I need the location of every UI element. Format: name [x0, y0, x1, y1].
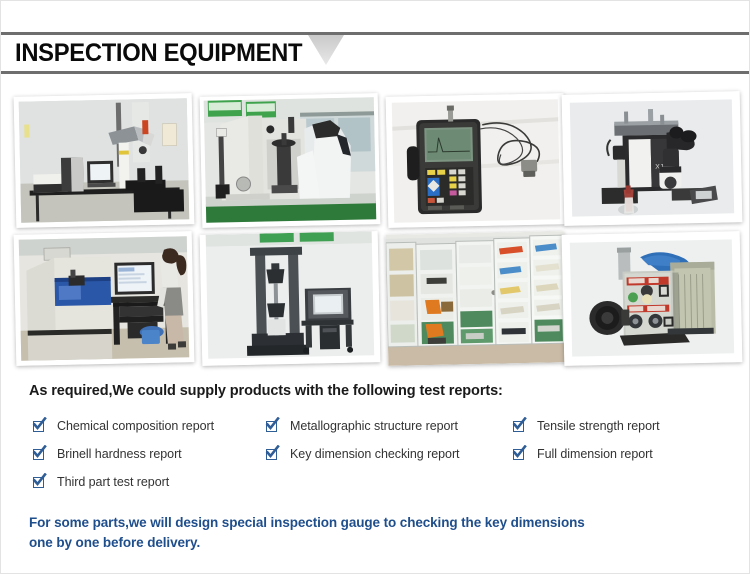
- photo-inspection-gauge-storage-cabinets-image: [386, 231, 567, 366]
- inspection-gauge-note: For some parts,we will design special in…: [29, 513, 729, 553]
- photo-portable-xray-flaw-detector: [562, 231, 743, 366]
- photo-universal-tensile-testing-machine-image: [200, 231, 381, 366]
- photo-brinell-hardness-tester-image: [200, 93, 381, 228]
- photo-inspection-gauge-storage-cabinets: [386, 231, 567, 366]
- photo-spectrometer-analyzer-image: [14, 231, 195, 366]
- photo-spectrometer-analyzer: [14, 231, 195, 366]
- checkmark-icon: [513, 420, 526, 433]
- report-item-brinell-hardness[interactable]: Brinell hardness report: [33, 447, 182, 461]
- checkmark-icon: [33, 476, 46, 489]
- checkmark-icon: [33, 420, 46, 433]
- checkmark-icon: [33, 448, 46, 461]
- photo-cmm-measuring-machine: [14, 93, 195, 228]
- photo-universal-tensile-testing-machine: [200, 231, 381, 366]
- inspection-equipment-page: INSPECTION EQUIPMENT: [0, 0, 750, 574]
- photo-ultrasonic-flaw-detector: [386, 93, 567, 228]
- photo-brinell-hardness-tester: [200, 93, 381, 228]
- photo-metallographic-microscope-image: XJP-6A: [562, 91, 743, 226]
- report-item-chemical-composition[interactable]: Chemical composition report: [33, 419, 214, 433]
- page-title: INSPECTION EQUIPMENT: [15, 35, 302, 71]
- note-line-2: one by one before delivery.: [29, 533, 729, 553]
- photo-portable-xray-flaw-detector-image: [562, 231, 743, 366]
- report-label: Third part test report: [57, 475, 169, 489]
- report-item-tensile-strength[interactable]: Tensile strength report: [513, 419, 660, 433]
- checkmark-icon: [266, 420, 279, 433]
- report-item-metallographic-structure[interactable]: Metallographic structure report: [266, 419, 458, 433]
- report-label: Chemical composition report: [57, 419, 214, 433]
- report-item-third-part-test[interactable]: Third part test report: [33, 475, 169, 489]
- report-label: Tensile strength report: [537, 419, 660, 433]
- report-label: Key dimension checking report: [290, 447, 459, 461]
- reports-heading: As required,We could supply products wit…: [29, 383, 503, 399]
- photo-cmm-measuring-machine-image: [14, 93, 195, 228]
- report-label: Full dimension report: [537, 447, 653, 461]
- banner-bottom-rule: [1, 71, 750, 74]
- header-banner: INSPECTION EQUIPMENT: [1, 32, 750, 74]
- photo-metallographic-microscope: XJP-6A: [562, 91, 743, 226]
- note-line-1: For some parts,we will design special in…: [29, 513, 729, 533]
- report-label: Metallographic structure report: [290, 419, 458, 433]
- report-label: Brinell hardness report: [57, 447, 182, 461]
- checkmark-icon: [266, 448, 279, 461]
- report-item-key-dimension-checking[interactable]: Key dimension checking report: [266, 447, 459, 461]
- photo-ultrasonic-flaw-detector-image: [386, 93, 567, 228]
- report-item-full-dimension[interactable]: Full dimension report: [513, 447, 653, 461]
- equipment-photo-gallery: XJP-6A: [15, 95, 739, 367]
- checkmark-icon: [513, 448, 526, 461]
